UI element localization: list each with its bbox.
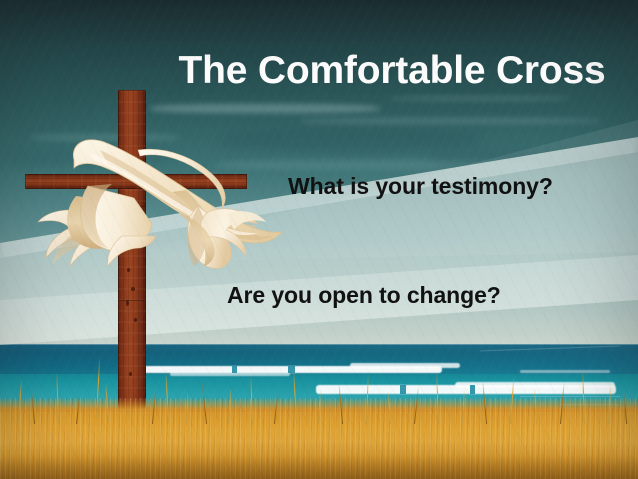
wave-foam-break <box>470 385 475 394</box>
wave-foam <box>170 372 290 376</box>
presentation-slide: The Comfortable Cross What is your testi… <box>0 0 638 479</box>
sky-smear <box>300 118 600 124</box>
wave-foam <box>350 363 460 368</box>
wheat-field-shadow <box>0 455 638 479</box>
sky-smear <box>30 134 180 141</box>
wave-foam-break <box>232 366 237 373</box>
slide-title: The Comfortable Cross <box>170 48 614 94</box>
slide-body-line-1: What is your testimony? <box>288 173 553 200</box>
sky-smear <box>150 104 380 113</box>
sky-smear <box>60 178 180 186</box>
wave-foam <box>520 370 610 373</box>
sky-cloud-shadow <box>430 150 630 168</box>
slide-body-line-2: Are you open to change? <box>227 282 501 309</box>
sky-smear <box>390 96 570 101</box>
wave-foam-break <box>400 385 406 394</box>
sky-cloud-shadow <box>220 128 480 152</box>
sky-cloud-shadow <box>0 150 170 166</box>
